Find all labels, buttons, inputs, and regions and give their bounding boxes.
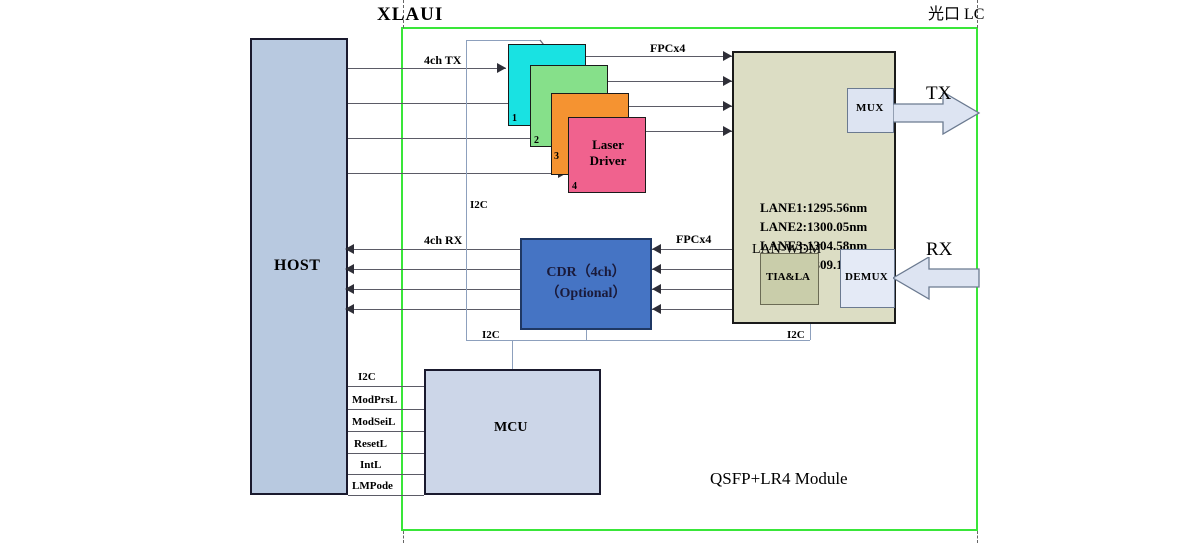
rx-bus-label: 4ch RX xyxy=(424,234,462,246)
ctrl-wire-6 xyxy=(348,495,424,496)
ctrl-pin-label-4: ResetL xyxy=(354,439,387,450)
ctrl-wire-5 xyxy=(348,474,424,475)
rx-wire-2 xyxy=(348,269,520,270)
fpc-rx-wire-1 xyxy=(652,249,732,250)
xlaui-label: XLAUI xyxy=(377,5,443,24)
fpc-tx-wire-3 xyxy=(629,106,732,107)
fpc-rx-wire-3 xyxy=(652,289,732,290)
demux-label: DEMUX xyxy=(845,272,888,283)
i2c-lanwdm-tap xyxy=(810,324,811,340)
tx-wire-4 xyxy=(348,173,567,174)
tx-wire-1 xyxy=(348,68,506,69)
ctrl-wire-3 xyxy=(348,431,424,432)
fpc-rx-wire-2 xyxy=(652,269,732,270)
ctrl-wire-2 xyxy=(348,409,424,410)
fpc-tx-wire-4 xyxy=(646,131,732,132)
fpc-tx-wire-1 xyxy=(586,56,732,57)
fpc-tx-arrow-1 xyxy=(723,51,732,61)
rx-optical-arrow xyxy=(893,257,983,301)
rx-wire-1 xyxy=(348,249,520,250)
i2c-bottom-bus xyxy=(466,340,810,341)
laser-driver-channel-2-number: 2 xyxy=(534,136,539,146)
ctrl-pin-label-3: ModSeiL xyxy=(352,417,395,428)
rx-arrow-3 xyxy=(345,284,354,294)
fpc-rx-arrow-3 xyxy=(652,284,661,294)
fpc-rx-wire-4 xyxy=(652,309,732,310)
ctrl-pin-label-2: ModPrsL xyxy=(352,395,397,406)
fpc-tx-arrow-3 xyxy=(723,101,732,111)
i2c-left-label: I2C xyxy=(482,330,500,341)
diagram-canvas: XLAUI 光口 LC QSFP+LR4 Module HOST 4ch TX … xyxy=(0,0,1200,543)
cdr-label-line1: CDR（4ch） xyxy=(546,265,625,280)
rx-arrow-4 xyxy=(345,304,354,314)
optical-port-label: 光口 LC xyxy=(928,7,984,23)
mcu-label: MCU xyxy=(494,421,527,435)
xlaui-dashed-guide-bottom xyxy=(403,531,404,543)
tx-bus-label: 4ch TX xyxy=(424,54,461,66)
fpc-tx-arrow-2 xyxy=(723,76,732,86)
laser-driver-label-line2: Driver xyxy=(590,153,627,168)
tia-la-label: TIA&LA xyxy=(766,272,810,283)
rx-arrow-2 xyxy=(345,264,354,274)
fpc-rx-label: FPCx4 xyxy=(676,233,711,245)
ctrl-pin-label-6: LMPode xyxy=(352,481,393,492)
fpc-rx-arrow-4 xyxy=(652,304,661,314)
ctrl-wire-1 xyxy=(348,386,424,387)
fpc-tx-arrow-4 xyxy=(723,126,732,136)
laser-driver-channel-4-number: 4 xyxy=(572,182,577,192)
mux-label: MUX xyxy=(856,103,884,114)
rx-arrow-1 xyxy=(345,244,354,254)
ctrl-pin-label-1: I2C xyxy=(358,372,376,383)
i2c-trunk-vertical xyxy=(466,40,467,340)
laser-driver-channel-1-number: 1 xyxy=(512,114,517,124)
laser-driver-channel-3-number: 3 xyxy=(554,152,559,162)
fpc-rx-arrow-2 xyxy=(652,264,661,274)
module-name-label: QSFP+LR4 Module xyxy=(710,470,848,487)
cdr-label-line2: （Optional） xyxy=(546,286,627,301)
tx-label: TX xyxy=(926,84,951,103)
fpc-tx-label: FPCx4 xyxy=(650,42,685,54)
fpc-tx-wire-2 xyxy=(608,81,732,82)
optical-dashed-guide-bottom xyxy=(977,531,978,543)
i2c-right-label: I2C xyxy=(787,330,805,341)
laser-driver-label-line1: Laser xyxy=(592,137,624,152)
i2c-cdr-tap xyxy=(586,330,587,340)
host-label: HOST xyxy=(274,258,320,274)
fpc-rx-arrow-1 xyxy=(652,244,661,254)
lane-2-label: LANE2:1300.05nm xyxy=(760,220,867,233)
laser-driver-label: LaserDriver xyxy=(582,137,634,170)
i2c-mcu-tap xyxy=(512,340,513,369)
rx-wire-3 xyxy=(348,289,520,290)
ctrl-pin-label-5: IntL xyxy=(360,460,381,471)
rx-wire-4 xyxy=(348,309,520,310)
lane-1-label: LANE1:1295.56nm xyxy=(760,201,867,214)
ctrl-wire-4 xyxy=(348,453,424,454)
cdr-label: CDR（4ch）（Optional） xyxy=(526,262,646,304)
i2c-top-label: I2C xyxy=(470,200,488,211)
rx-label: RX xyxy=(926,240,952,259)
